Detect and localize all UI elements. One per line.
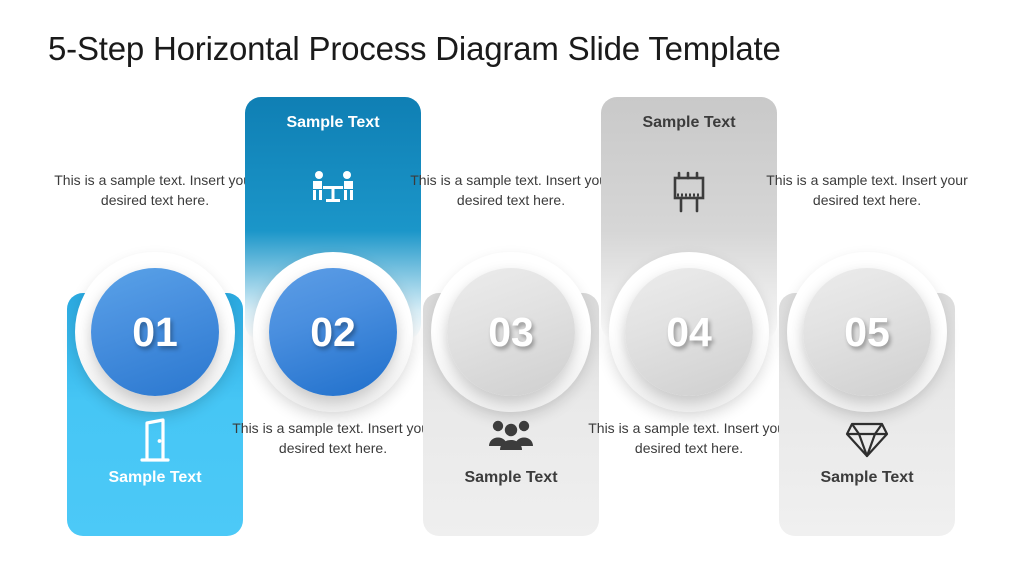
step-label-03: Sample Text (423, 468, 599, 488)
step-label-01: Sample Text (67, 468, 243, 488)
step-circle-02[interactable]: 02 (269, 268, 397, 396)
step-number-02: 02 (310, 312, 356, 353)
people-group-icon (423, 418, 599, 452)
step-circle-05[interactable]: 05 (803, 268, 931, 396)
step-number-01: 01 (132, 312, 178, 353)
process-step-03[interactable]: This is a sample text. Insert your desir… (423, 0, 599, 576)
step-label-02: Sample Text (245, 113, 421, 133)
process-step-02[interactable]: Sample Text 02 This is a sample text. In… (245, 0, 421, 576)
step-body-text-01: This is a sample text. Insert your desir… (49, 170, 261, 211)
step-circle-03[interactable]: 03 (447, 268, 575, 396)
step-label-04: Sample Text (601, 113, 777, 133)
process-step-04[interactable]: Sample Text 04 This is a sample text. In… (601, 0, 777, 576)
step-circle-01[interactable]: 01 (91, 268, 219, 396)
diamond-icon (779, 418, 955, 460)
door-icon (67, 418, 243, 464)
step-label-05: Sample Text (779, 468, 955, 488)
meeting-table-icon (245, 170, 421, 206)
step-body-text-02: This is a sample text. Insert your desir… (227, 418, 439, 459)
step-number-05: 05 (844, 312, 890, 353)
step-circle-04[interactable]: 04 (625, 268, 753, 396)
step-body-text-04: This is a sample text. Insert your desir… (583, 418, 795, 459)
process-step-01[interactable]: This is a sample text. Insert your desir… (67, 0, 243, 576)
billboard-icon (601, 170, 777, 214)
step-number-04: 04 (666, 312, 712, 353)
slide-canvas: 5-Step Horizontal Process Diagram Slide … (0, 0, 1024, 576)
process-step-05[interactable]: This is a sample text. Insert your desir… (779, 0, 955, 576)
step-body-text-05: This is a sample text. Insert your desir… (761, 170, 973, 211)
step-body-text-03: This is a sample text. Insert your desir… (405, 170, 617, 211)
step-number-03: 03 (488, 312, 534, 353)
